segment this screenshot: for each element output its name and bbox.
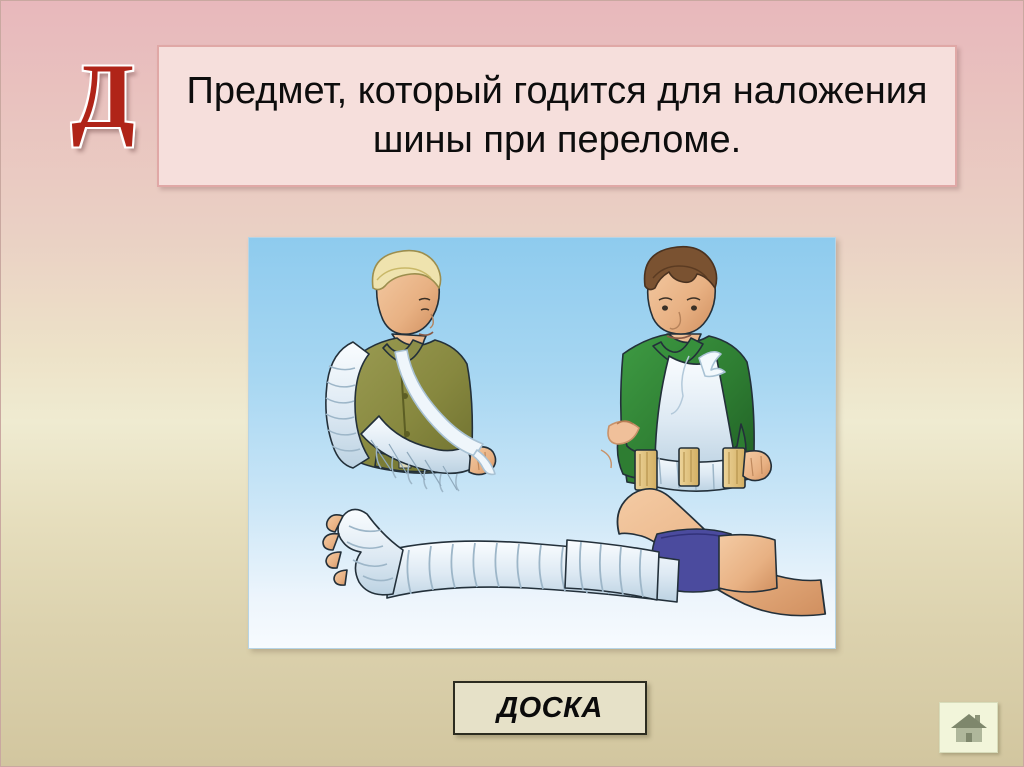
first-aid-illustration xyxy=(248,237,836,649)
home-button[interactable] xyxy=(939,702,998,753)
letter-badge: Д xyxy=(57,41,149,151)
first-aid-illustration-graphic xyxy=(249,238,835,648)
question-text: Предмет, который годится для наложения ш… xyxy=(185,67,929,164)
answer-text: ДОСКА xyxy=(497,692,603,725)
home-icon xyxy=(949,711,989,745)
slide-canvas: Д Предмет, который годится для наложения… xyxy=(0,0,1024,767)
question-box: Предмет, который годится для наложения ш… xyxy=(157,45,957,187)
answer-box[interactable]: ДОСКА xyxy=(453,681,647,735)
